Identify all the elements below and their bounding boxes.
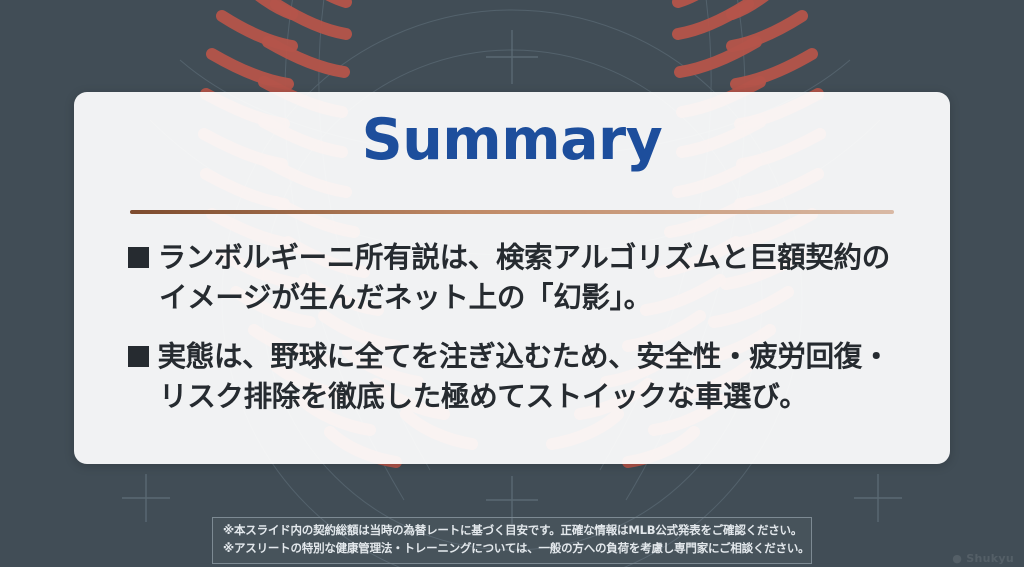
page-title: Summary bbox=[74, 112, 950, 169]
title-divider bbox=[130, 210, 894, 214]
footnote-box: ※本スライド内の契約総額は当時の為替レートに基づく目安です。正確な情報はMLB公… bbox=[212, 517, 812, 564]
list-item: ランボルギーニ所有説は、検索アルゴリズムと巨額契約のイメージが生んだネット上の「… bbox=[128, 238, 918, 319]
watermark: ● Shukyu bbox=[952, 552, 1014, 565]
square-bullet-icon bbox=[128, 247, 149, 268]
slide-root: Summary ランボルギーニ所有説は、検索アルゴリズムと巨額契約のイメージが生… bbox=[0, 0, 1024, 567]
footnote-line-exchange-rate: ※本スライド内の契約総額は当時の為替レートに基づく目安です。正確な情報はMLB公… bbox=[223, 522, 801, 540]
list-item: 実態は、野球に全てを注ぎ込むため、安全性・疲労回復・リスク排除を徹底した極めてス… bbox=[128, 337, 918, 418]
summary-card: Summary ランボルギーニ所有説は、検索アルゴリズムと巨額契約のイメージが生… bbox=[74, 92, 950, 464]
footnote-line-health-disclaimer: ※アスリートの特別な健康管理法・トレーニングについては、一般の方への負荷を考慮し… bbox=[223, 540, 801, 558]
list-item-text: ランボルギーニ所有説は、検索アルゴリズムと巨額契約のイメージが生んだネット上の「… bbox=[159, 238, 918, 319]
list-item-text: 実態は、野球に全てを注ぎ込むため、安全性・疲労回復・リスク排除を徹底した極めてス… bbox=[159, 337, 918, 418]
square-bullet-icon bbox=[128, 346, 149, 367]
summary-bullet-list: ランボルギーニ所有説は、検索アルゴリズムと巨額契約のイメージが生んだネット上の「… bbox=[128, 238, 918, 436]
